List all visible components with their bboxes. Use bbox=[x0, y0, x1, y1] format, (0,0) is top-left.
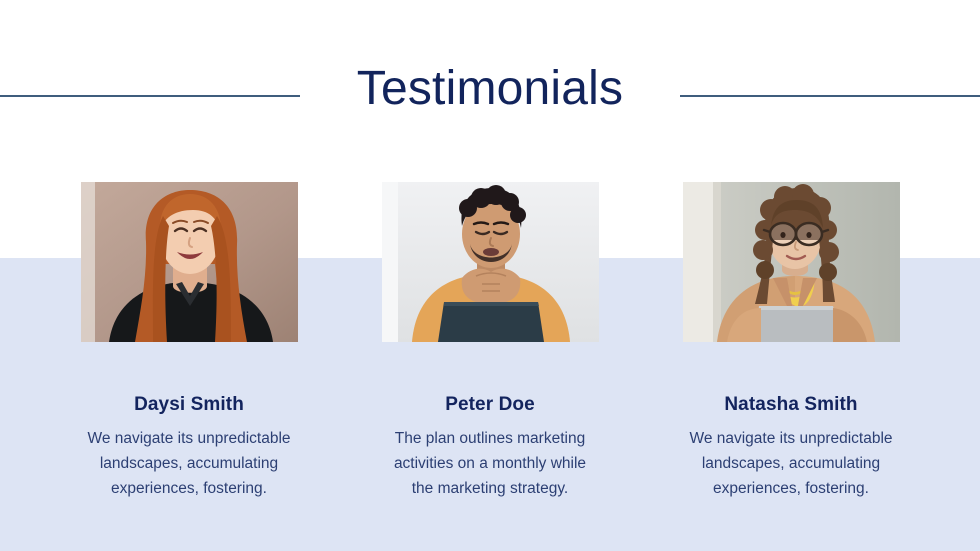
testimonial-name: Peter Doe bbox=[445, 394, 535, 416]
testimonial-card: Daysi Smith We navigate its unpredictabl… bbox=[81, 182, 298, 501]
testimonial-quote: The plan outlines marketing activities o… bbox=[366, 426, 614, 501]
testimonial-name: Natasha Smith bbox=[724, 394, 857, 416]
testimonial-card-list: Daysi Smith We navigate its unpredictabl… bbox=[0, 182, 980, 501]
testimonial-card: Natasha Smith We navigate its unpredicta… bbox=[683, 182, 900, 501]
avatar-photo-daysi-smith bbox=[81, 182, 298, 342]
testimonial-quote: We navigate its unpredictable landscapes… bbox=[65, 426, 313, 501]
avatar-photo-natasha-smith bbox=[683, 182, 900, 342]
slide-header: Testimonials bbox=[0, 55, 980, 125]
testimonial-quote: We navigate its unpredictable landscapes… bbox=[667, 426, 915, 501]
testimonial-card: Peter Doe The plan outlines marketing ac… bbox=[382, 182, 599, 501]
testimonial-name: Daysi Smith bbox=[134, 394, 244, 416]
avatar-photo-peter-doe bbox=[382, 182, 599, 342]
page-title: Testimonials bbox=[0, 55, 980, 123]
testimonials-slide: Testimonials bbox=[0, 0, 980, 551]
